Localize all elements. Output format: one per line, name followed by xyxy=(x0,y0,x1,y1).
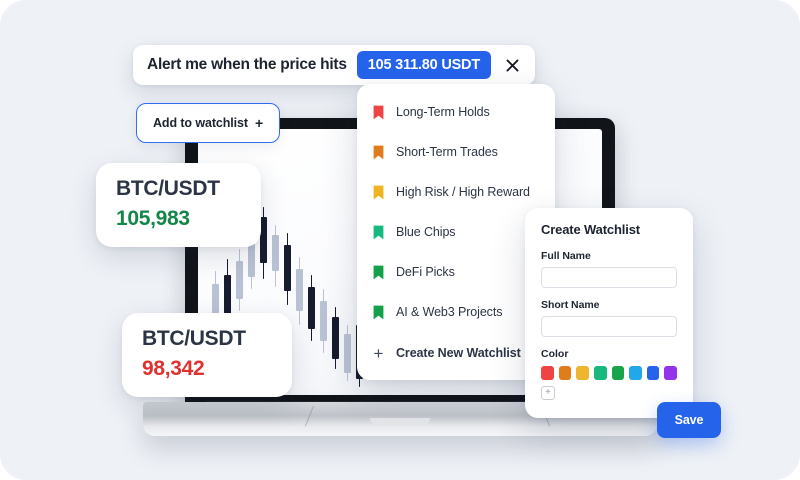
bookmark-icon xyxy=(373,265,384,280)
plus-icon: + xyxy=(373,345,384,362)
plus-icon: + xyxy=(255,116,263,130)
candle-body xyxy=(344,334,351,373)
alert-banner-text: Alert me when the price hits xyxy=(147,56,347,74)
watchlist-item-label: DeFi Picks xyxy=(396,265,455,279)
panel-title: Create Watchlist xyxy=(541,222,677,237)
color-swatch[interactable] xyxy=(664,366,677,380)
watchlist-item[interactable]: Long-Term Holds xyxy=(357,92,555,132)
color-swatch[interactable] xyxy=(594,366,607,380)
watchlist-item-label: High Risk / High Reward xyxy=(396,185,530,199)
color-swatch[interactable] xyxy=(612,366,625,380)
candle-body xyxy=(260,217,267,263)
color-swatch[interactable] xyxy=(541,366,554,380)
laptop-notch xyxy=(370,418,430,425)
candle-body xyxy=(284,245,291,291)
candle-body xyxy=(296,269,303,311)
color-swatch[interactable] xyxy=(576,366,589,380)
create-new-watchlist-label: Create New Watchlist xyxy=(396,346,521,360)
candle-body xyxy=(308,287,315,329)
app-canvas: BTC/USDT 105,983 BTC/USDT 98,342 Add to … xyxy=(0,0,800,480)
bookmark-icon xyxy=(373,305,384,320)
price-card-down: BTC/USDT 98,342 xyxy=(122,313,292,397)
price-card-up: BTC/USDT 105,983 xyxy=(96,163,261,247)
color-swatch[interactable] xyxy=(559,366,572,380)
candle-body xyxy=(272,235,279,271)
watchlist-item[interactable]: Short-Term Trades xyxy=(357,132,555,172)
save-button[interactable]: Save xyxy=(657,402,721,438)
alert-price-pill[interactable]: 105 311.80 USDT xyxy=(357,51,491,79)
full-name-label: Full Name xyxy=(541,250,677,262)
bookmark-icon xyxy=(373,105,384,120)
add-to-watchlist-label: Add to watchlist xyxy=(153,116,248,130)
bookmark-icon xyxy=(373,185,384,200)
watchlist-item-label: Blue Chips xyxy=(396,225,455,239)
watchlist-item[interactable]: High Risk / High Reward xyxy=(357,172,555,212)
price-card-pair: BTC/USDT xyxy=(142,327,272,351)
add-to-watchlist-button[interactable]: Add to watchlist + xyxy=(136,103,280,143)
create-watchlist-panel: Create Watchlist Full Name Short Name Co… xyxy=(525,208,693,418)
short-name-label: Short Name xyxy=(541,299,677,311)
watchlist-item-label: Long-Term Holds xyxy=(396,105,490,119)
color-swatch[interactable] xyxy=(629,366,642,380)
add-color-button[interactable]: + xyxy=(541,386,555,400)
close-icon[interactable] xyxy=(501,54,523,76)
color-swatch-row xyxy=(541,366,677,380)
full-name-input[interactable] xyxy=(541,267,677,288)
candle-body xyxy=(320,301,327,341)
price-alert-banner: Alert me when the price hits 105 311.80 … xyxy=(133,45,535,85)
bookmark-icon xyxy=(373,145,384,160)
watchlist-item-label: AI & Web3 Projects xyxy=(396,305,502,319)
color-label: Color xyxy=(541,348,677,360)
color-swatch[interactable] xyxy=(647,366,660,380)
price-card-value: 105,983 xyxy=(116,205,241,232)
bookmark-icon xyxy=(373,225,384,240)
candle-body xyxy=(236,261,243,299)
watchlist-item-label: Short-Term Trades xyxy=(396,145,498,159)
short-name-input[interactable] xyxy=(541,316,677,337)
price-card-pair: BTC/USDT xyxy=(116,177,241,201)
candle-body xyxy=(332,317,339,359)
price-card-value: 98,342 xyxy=(142,355,272,382)
